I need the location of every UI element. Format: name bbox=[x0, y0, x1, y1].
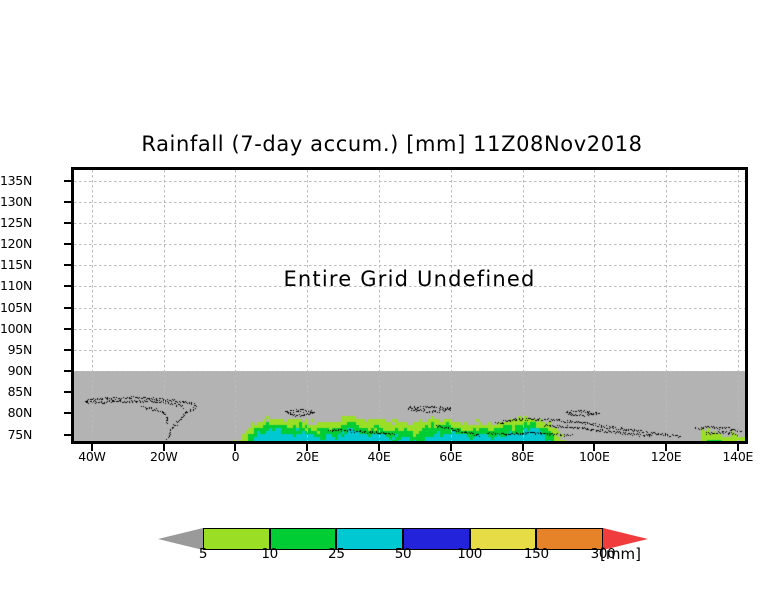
gridline-horizontal bbox=[74, 202, 745, 203]
y-axis-tick-label: 115N bbox=[0, 257, 32, 272]
colorbar-tick-label: 5 bbox=[183, 546, 223, 562]
y-axis-tick-label: 135N bbox=[0, 173, 32, 188]
y-axis-tick-label: 100N bbox=[0, 321, 32, 336]
x-axis-tick-mark bbox=[163, 444, 165, 451]
y-axis-tick-mark bbox=[64, 370, 71, 372]
y-axis-tick-mark bbox=[64, 285, 71, 287]
gridline-vertical bbox=[523, 170, 524, 441]
colorbar-tick-label: 50 bbox=[383, 546, 423, 562]
x-axis-tick-mark bbox=[737, 444, 739, 451]
x-axis-tick-label: 20W bbox=[134, 449, 194, 464]
gridline-vertical bbox=[92, 170, 93, 441]
y-axis-tick-label: 95N bbox=[0, 342, 32, 357]
gridline-horizontal bbox=[74, 265, 745, 266]
y-axis-tick-mark bbox=[64, 349, 71, 351]
y-axis-tick-mark bbox=[64, 434, 71, 436]
x-axis-tick-label: 0 bbox=[205, 449, 265, 464]
y-axis-tick-mark bbox=[64, 222, 71, 224]
map-plot-area: Entire Grid Undefined bbox=[74, 170, 745, 441]
y-axis-tick-label: 85N bbox=[0, 384, 32, 399]
x-axis-tick-mark bbox=[378, 444, 380, 451]
gridline-vertical bbox=[379, 170, 380, 441]
y-axis-tick-mark bbox=[64, 201, 71, 203]
y-axis-tick-label: 110N bbox=[0, 278, 32, 293]
y-axis-tick-mark bbox=[64, 412, 71, 414]
x-axis-tick-label: 40E bbox=[349, 449, 409, 464]
gridline-vertical bbox=[738, 170, 739, 441]
x-axis-tick-label: 140E bbox=[708, 449, 768, 464]
gridline-vertical bbox=[451, 170, 452, 441]
y-axis-tick-mark bbox=[64, 328, 71, 330]
undefined-grid-message: Entire Grid Undefined bbox=[74, 267, 745, 291]
y-axis-tick-mark bbox=[64, 264, 71, 266]
y-axis-tick-label: 130N bbox=[0, 194, 32, 209]
gridline-horizontal bbox=[74, 329, 745, 330]
gridline-horizontal bbox=[74, 244, 745, 245]
x-axis-tick-label: 20E bbox=[277, 449, 337, 464]
colorbar-tick-label: 10 bbox=[250, 546, 290, 562]
y-axis-tick-mark bbox=[64, 243, 71, 245]
y-axis-tick-label: 105N bbox=[0, 300, 32, 315]
x-axis-tick-label: 120E bbox=[636, 449, 696, 464]
y-axis-tick-label: 120N bbox=[0, 236, 32, 251]
gridline-horizontal bbox=[74, 350, 745, 351]
precipitation-raster bbox=[74, 170, 745, 441]
x-axis-tick-label: 40W bbox=[62, 449, 122, 464]
x-axis-tick-mark bbox=[306, 444, 308, 451]
map-plot-frame: Entire Grid Undefined bbox=[71, 167, 748, 444]
colorbar-tick-label: 300 bbox=[583, 546, 623, 562]
gridline-vertical bbox=[307, 170, 308, 441]
x-axis-tick-label: 100E bbox=[564, 449, 624, 464]
gridline-vertical bbox=[164, 170, 165, 441]
gridline-horizontal bbox=[74, 308, 745, 309]
y-axis-tick-mark bbox=[64, 180, 71, 182]
colorbar-tick-label: 100 bbox=[450, 546, 490, 562]
gridline-vertical bbox=[666, 170, 667, 441]
x-axis-tick-mark bbox=[234, 444, 236, 451]
colorbar-tick-label: 150 bbox=[516, 546, 556, 562]
gridline-horizontal bbox=[74, 181, 745, 182]
x-axis-tick-mark bbox=[665, 444, 667, 451]
x-axis-tick-mark bbox=[522, 444, 524, 451]
x-axis-tick-mark bbox=[593, 444, 595, 451]
x-axis-tick-mark bbox=[91, 444, 93, 451]
gridline-horizontal bbox=[74, 223, 745, 224]
y-axis-tick-label: 90N bbox=[0, 363, 32, 378]
x-axis-tick-mark bbox=[450, 444, 452, 451]
gridline-vertical bbox=[594, 170, 595, 441]
page-title: Rainfall (7-day accum.) [mm] 11Z08Nov201… bbox=[0, 132, 784, 156]
colorbar-tick-label: 25 bbox=[316, 546, 356, 562]
x-axis-tick-label: 60E bbox=[421, 449, 481, 464]
y-axis-tick-label: 80N bbox=[0, 405, 32, 420]
gridline-vertical bbox=[235, 170, 236, 441]
y-axis-tick-mark bbox=[64, 391, 71, 393]
y-axis-tick-label: 125N bbox=[0, 215, 32, 230]
gridline-horizontal bbox=[74, 371, 745, 372]
y-axis-tick-label: 75N bbox=[0, 427, 32, 442]
x-axis-tick-label: 80E bbox=[493, 449, 553, 464]
y-axis-tick-mark bbox=[64, 307, 71, 309]
